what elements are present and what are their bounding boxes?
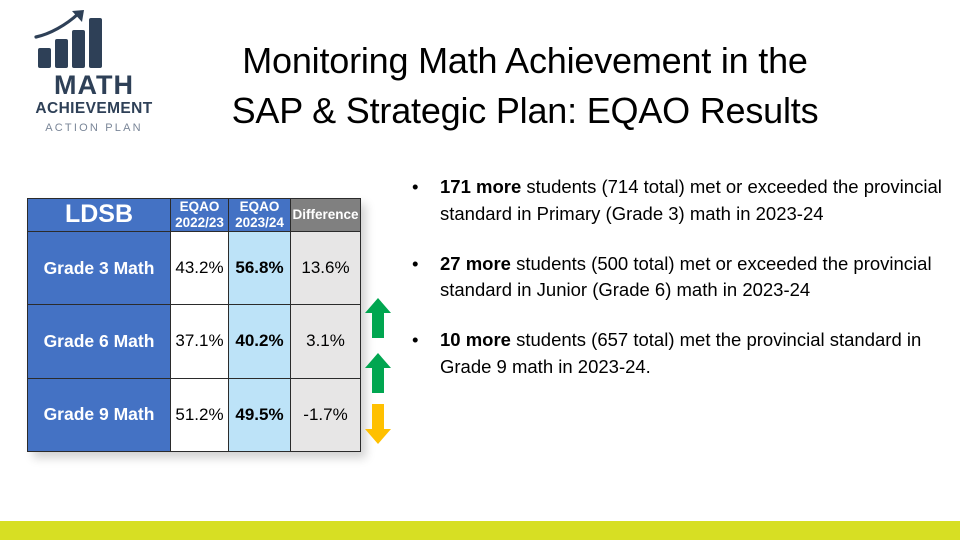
page-title-line-1: Monitoring Math Achievement in the xyxy=(180,36,870,86)
bullet-1-text: students (500 total) met or exceeded the… xyxy=(440,253,932,301)
table-header-prev-year-line2: 2022/23 xyxy=(175,215,224,230)
table-header-prev-year: EQAO 2022/23 xyxy=(171,199,229,232)
table-cell-grade-3-diff: 13.6% xyxy=(291,231,361,304)
table-header-curr-year-line2: 2023/24 xyxy=(235,215,284,230)
table-row-label-grade-6: Grade 6 Math xyxy=(28,305,171,378)
table-header-ldsb: LDSB xyxy=(28,199,171,232)
logo-bar-2 xyxy=(55,39,68,68)
eqao-results-table: LDSB EQAO 2022/23 EQAO 2023/24 Differenc… xyxy=(27,198,361,452)
logo-text-math: MATH xyxy=(54,70,134,100)
logo-trend-line xyxy=(36,14,78,37)
table-header-row: LDSB EQAO 2022/23 EQAO 2023/24 Differenc… xyxy=(28,199,361,232)
table-header-prev-year-line1: EQAO xyxy=(180,199,220,214)
bullet-2-highlight: 10 more xyxy=(440,329,511,350)
list-item: • 10 more students (657 total) met the p… xyxy=(404,327,952,381)
arrow-up-icon xyxy=(363,296,393,340)
list-item: • 27 more students (500 total) met or ex… xyxy=(404,251,952,305)
logo-text-achievement: ACHIEVEMENT xyxy=(35,100,152,117)
table-row-label-grade-3: Grade 3 Math xyxy=(28,231,171,304)
key-findings-list: • 171 more students (714 total) met or e… xyxy=(404,174,952,404)
table-row: Grade 3 Math 43.2% 56.8% 13.6% xyxy=(28,231,361,304)
table-cell-grade-3-curr: 56.8% xyxy=(229,231,291,304)
table-cell-grade-6-diff: 3.1% xyxy=(291,305,361,378)
table-row: Grade 9 Math 51.2% 49.5% -1.7% xyxy=(28,378,361,451)
table-row: Grade 6 Math 37.1% 40.2% 3.1% xyxy=(28,305,361,378)
arrow-up-icon xyxy=(363,351,393,395)
arrow-up-glyph xyxy=(363,351,393,395)
arrow-down-glyph xyxy=(363,402,393,446)
table-cell-grade-9-diff: -1.7% xyxy=(291,378,361,451)
logo-bar-1 xyxy=(38,48,51,68)
arrow-down-icon xyxy=(363,402,393,446)
bullet-marker: • xyxy=(412,327,418,354)
table-cell-grade-9-prev: 51.2% xyxy=(171,378,229,451)
bullet-marker: • xyxy=(412,251,418,278)
logo-bar-3 xyxy=(72,30,85,68)
page-title: Monitoring Math Achievement in the SAP &… xyxy=(180,36,870,135)
table-cell-grade-6-prev: 37.1% xyxy=(171,305,229,378)
logo-graphic: MATH ACHIEVEMENT ACTION PLAN xyxy=(14,8,174,140)
bullet-1-highlight: 27 more xyxy=(440,253,511,274)
table-cell-grade-9-curr: 49.5% xyxy=(229,378,291,451)
logo-text-action-plan: ACTION PLAN xyxy=(45,122,143,134)
table-cell-grade-3-prev: 43.2% xyxy=(171,231,229,304)
page-title-line-2: SAP & Strategic Plan: EQAO Results xyxy=(180,86,870,136)
bullet-0-highlight: 171 more xyxy=(440,176,521,197)
table-header-curr-year-line1: EQAO xyxy=(240,199,280,214)
arrow-up-glyph xyxy=(363,296,393,340)
bullet-marker: • xyxy=(412,174,418,201)
bottom-accent-bar xyxy=(0,521,960,540)
table-row-label-grade-9: Grade 9 Math xyxy=(28,378,171,451)
table-header-curr-year: EQAO 2023/24 xyxy=(229,199,291,232)
bullet-2-text: students (657 total) met the provincial … xyxy=(440,329,921,377)
table-cell-grade-6-curr: 40.2% xyxy=(229,305,291,378)
list-item: • 171 more students (714 total) met or e… xyxy=(404,174,952,228)
table-header-difference: Difference xyxy=(291,199,361,232)
logo-bar-4 xyxy=(89,18,102,68)
math-achievement-action-plan-logo: MATH ACHIEVEMENT ACTION PLAN xyxy=(14,8,174,140)
eqao-results-table-container: LDSB EQAO 2022/23 EQAO 2023/24 Differenc… xyxy=(27,198,360,452)
